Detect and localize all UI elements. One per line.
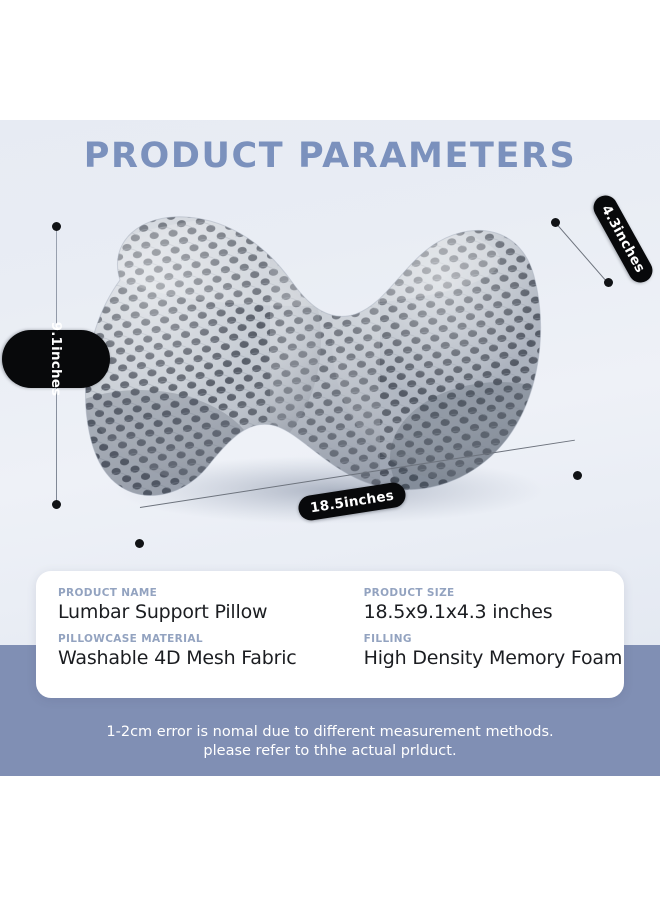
width-dimension-group: 18.5inches — [130, 468, 582, 554]
specifications-card: PRODUCT NAME Lumbar Support Pillow PRODU… — [36, 571, 624, 698]
height-dimension-text: 9.1inches — [48, 322, 64, 397]
spec-value-pillowcase-material: Washable 4D Mesh Fabric — [58, 647, 348, 669]
spec-item-pillowcase-material: PILLOWCASE MATERIAL Washable 4D Mesh Fab… — [36, 633, 348, 669]
page-title: PRODUCT PARAMETERS — [0, 136, 660, 176]
spec-label-product-name: PRODUCT NAME — [58, 587, 348, 599]
depth-dimension-dot-start — [551, 218, 560, 227]
height-dimension-dot-bottom — [52, 500, 61, 509]
spec-item-product-name: PRODUCT NAME Lumbar Support Pillow — [36, 587, 348, 623]
spec-value-product-size: 18.5x9.1x4.3 inches — [364, 601, 624, 623]
spec-item-product-size: PRODUCT SIZE 18.5x9.1x4.3 inches — [348, 587, 624, 623]
spec-value-filling: High Density Memory Foam — [364, 647, 624, 669]
width-dimension-label: 18.5inches — [297, 481, 408, 522]
measurement-disclaimer: 1-2cm error is nomal due to different me… — [0, 723, 660, 761]
depth-dimension-dot-end — [604, 278, 613, 287]
depth-dimension-group: 4.3inches — [540, 205, 650, 305]
width-dimension-dot-left — [135, 539, 144, 548]
bottom-white-margin — [0, 776, 660, 900]
disclaimer-line-2: please refer to thhe actual prlduct. — [0, 742, 660, 761]
height-dimension-dot-top — [52, 222, 61, 231]
disclaimer-line-1: 1-2cm error is nomal due to different me… — [0, 723, 660, 742]
width-dimension-dot-right — [573, 471, 582, 480]
height-dimension-label: 9.1inches — [2, 330, 110, 388]
top-white-margin — [0, 0, 660, 120]
spec-label-filling: FILLING — [364, 633, 624, 645]
depth-dimension-line — [557, 224, 612, 287]
product-parameters-infographic: PRODUCT PARAMETERS — [0, 0, 660, 900]
spec-label-product-size: PRODUCT SIZE — [364, 587, 624, 599]
spec-label-pillowcase-material: PILLOWCASE MATERIAL — [58, 633, 348, 645]
spec-value-product-name: Lumbar Support Pillow — [58, 601, 348, 623]
spec-item-filling: FILLING High Density Memory Foam — [348, 633, 624, 669]
